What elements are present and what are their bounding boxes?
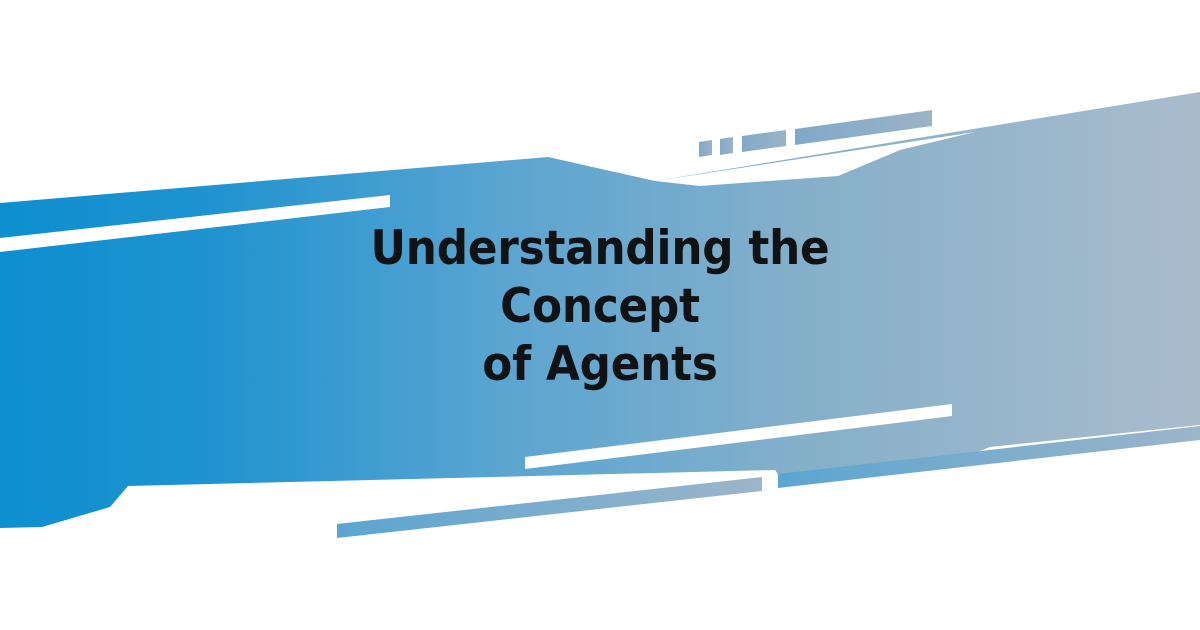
- decorative-background-graphic: [0, 0, 1200, 630]
- banner-hero: Understanding the Concept of Agents: [0, 0, 1200, 630]
- top-right-dash-small-2: [720, 137, 733, 155]
- top-right-dash-small-1: [699, 140, 712, 157]
